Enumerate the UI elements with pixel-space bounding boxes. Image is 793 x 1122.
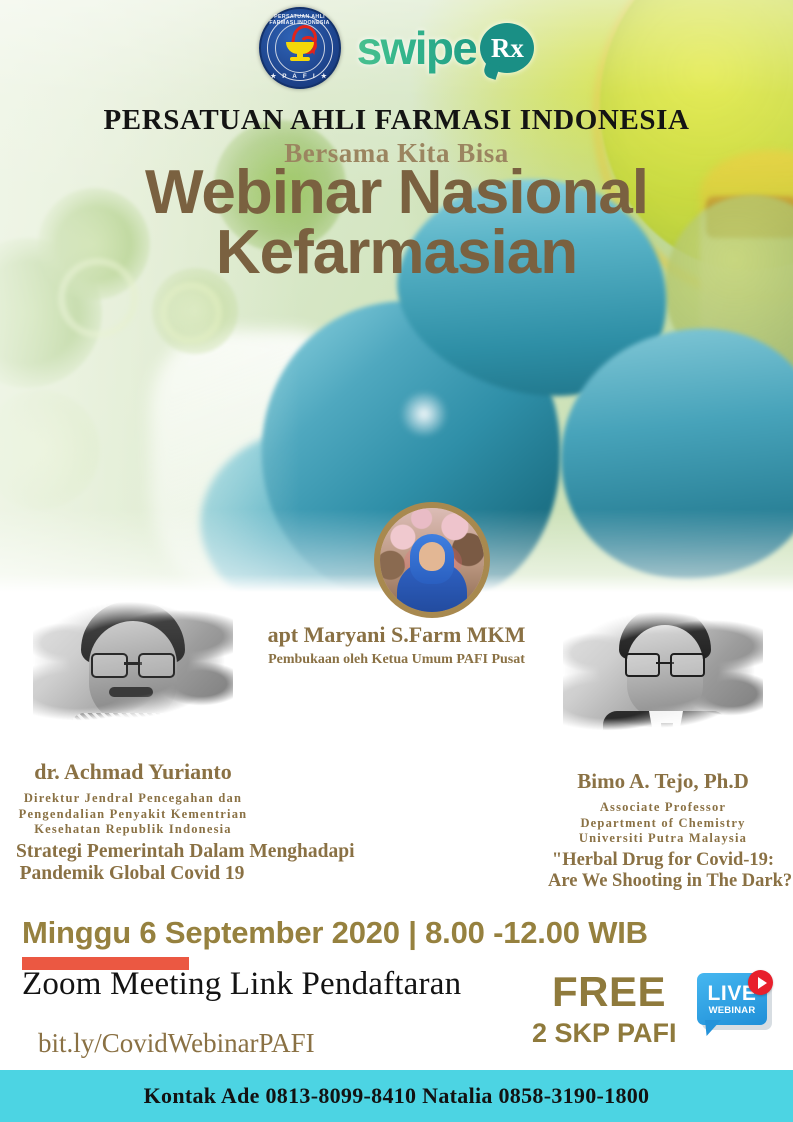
- eyeglass-lens-right: [670, 653, 705, 677]
- speaker-right-affiliation: Associate Professor Department of Chemis…: [548, 800, 778, 847]
- speaker-left-name: dr. Achmad Yurianto: [18, 759, 248, 785]
- eyeglasses-icon: [625, 653, 705, 675]
- price-badge: FREE: [552, 968, 666, 1016]
- credits-label: 2 SKP PAFI: [532, 1018, 677, 1049]
- event-date-time: Minggu 6 September 2020 | 8.00 -12.00 WI…: [22, 915, 648, 951]
- speaker-left-affiliation-line3: Kesehatan Republik Indonesia: [18, 822, 248, 838]
- speaker-right-topic: "Herbal Drug for Covid-19: Are We Shooti…: [548, 850, 778, 891]
- live-badge-line2: WEBINAR: [709, 1006, 756, 1016]
- webinar-poster: PERSATUAN AHLI FARMASI INDONESIA ★ P A F…: [0, 0, 793, 1122]
- brush-mask-right: [563, 595, 763, 765]
- portrait-bimo-tejo: [609, 607, 721, 763]
- eyeglass-lens-left: [91, 653, 128, 678]
- page-title-line2: Kefarmasian: [0, 223, 793, 283]
- speaker-left-affiliation: Direktur Jendral Pencegahan dan Pengenda…: [18, 791, 248, 838]
- brush-mask-left: [33, 585, 233, 755]
- speaker-left-topic-line2: Pandemik Global Covid 19: [16, 863, 248, 885]
- contact-footer-bar: Kontak Ade 0813-8099-8410 Natalia 0858-3…: [0, 1070, 793, 1122]
- portrait-achmad-yurianto: [73, 601, 193, 751]
- eyeglass-lens-right: [138, 653, 175, 678]
- eyeglass-lens-left: [625, 653, 660, 677]
- page-title: Webinar Nasional Kefarmasian: [0, 163, 793, 282]
- speaker-right-topic-line1: "Herbal Drug for Covid-19:: [548, 850, 778, 871]
- avatar-face: [419, 542, 445, 571]
- speaker-right-affiliation-line2: Department of Chemistry: [548, 816, 778, 832]
- speaker-right-affiliation-line3: Universiti Putra Malaysia: [548, 831, 778, 847]
- speaker-right-photo: [563, 595, 763, 765]
- speaker-left-affiliation-line1: Direktur Jendral Pencegahan dan: [18, 791, 248, 807]
- speaker-left-affiliation-line2: Pengendalian Penyakit Kementrian: [18, 807, 248, 823]
- swipe-wordmark: swipe: [357, 21, 477, 75]
- speaker-right-affiliation-line1: Associate Professor: [548, 800, 778, 816]
- bowl-of-hygieia-icon: [283, 31, 317, 61]
- page-title-line1: Webinar Nasional: [145, 158, 648, 227]
- speaker-left-topic: Strategi Pemerintah Dalam Menghadapi Pan…: [16, 841, 248, 885]
- organization-name: PERSATUAN AHLI FARMASI INDONESIA: [0, 104, 793, 137]
- rx-label: Rx: [491, 35, 524, 62]
- speaker-right-name: Bimo A. Tejo, Ph.D: [548, 769, 778, 794]
- eyeglasses-icon: [91, 653, 175, 676]
- speaker-left-topic-line1: Strategi Pemerintah Dalam Menghadapi: [16, 841, 248, 863]
- event-platform-line: Zoom Meeting Link Pendaftaran: [22, 966, 461, 1003]
- speaker-right-topic-line2: Are We Shooting in The Dark?": [548, 871, 778, 892]
- pafi-logo: PERSATUAN AHLI FARMASI INDONESIA ★ P A F…: [259, 7, 341, 89]
- bowl-base: [290, 57, 310, 61]
- portrait-batik-shirt: [69, 713, 197, 755]
- registration-link[interactable]: bit.ly/CovidWebinarPAFI: [38, 1028, 315, 1059]
- speaker-left: dr. Achmad Yurianto Direktur Jendral Pen…: [18, 585, 248, 885]
- play-button-icon: [748, 970, 773, 995]
- rx-speech-bubble-icon: Rx: [480, 23, 534, 73]
- portrait-moustache: [109, 687, 153, 697]
- live-webinar-badge: LIVE WEBINAR: [697, 973, 773, 1039]
- pafi-logo-ring-text-top: PERSATUAN AHLI FARMASI INDONESIA: [261, 14, 339, 26]
- contact-text: Kontak Ade 0813-8099-8410 Natalia 0858-3…: [144, 1083, 650, 1109]
- logo-row: PERSATUAN AHLI FARMASI INDONESIA ★ P A F…: [0, 6, 793, 90]
- pafi-logo-ring-text-bottom: ★ P A F I ★: [261, 72, 339, 80]
- speaker-left-photo: [33, 585, 233, 755]
- avatar-center-speaker: [374, 502, 490, 618]
- swiperx-logo: swipe Rx: [357, 21, 535, 75]
- speaker-right: Bimo A. Tejo, Ph.D Associate Professor D…: [548, 595, 778, 891]
